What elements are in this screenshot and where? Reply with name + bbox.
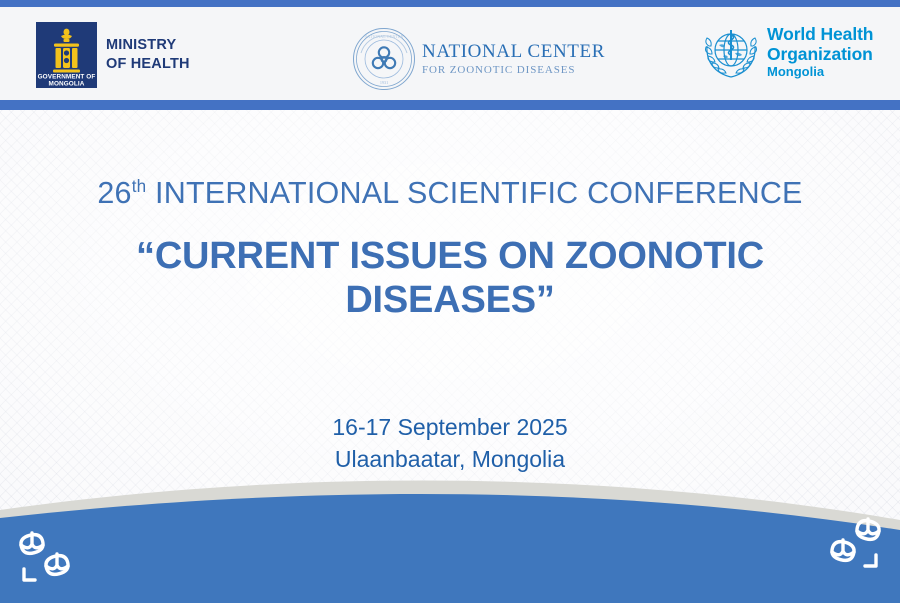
svg-text:GOVERNMENT OF: GOVERNMENT OF	[38, 74, 96, 81]
svg-text:NATIONAL CENTER: NATIONAL CENTER	[365, 35, 404, 39]
conference-ordinal: th	[132, 177, 147, 196]
top-accent-bar	[0, 0, 900, 7]
nczd-name-label: NATIONAL CENTER FOR ZOONOTIC DISEASES	[422, 42, 605, 76]
header-bottom-accent-bar	[0, 100, 900, 110]
conference-theme-title: “CURRENT ISSUES ON ZOONOTIC DISEASES”	[130, 234, 770, 322]
who-mongolia-logo: World Health Organization Mongolia	[702, 23, 873, 81]
nczd-name-line1: NATIONAL CENTER	[422, 42, 605, 62]
bottom-wave-decoration	[0, 468, 900, 603]
who-name-line2: Organization	[767, 45, 873, 65]
moh-text-line1: MINISTRY	[106, 37, 176, 53]
who-name-line1: World Health	[767, 25, 873, 45]
who-globe-asclepius-emblem-icon	[702, 23, 760, 81]
conference-number-line: 26th INTERNATIONAL SCIENTIFIC CONFERENCE	[0, 175, 900, 212]
nczd-name-line2: FOR ZOONOTIC DISEASES	[422, 65, 605, 77]
ornament-bottom-left	[14, 529, 88, 591]
header-logo-row: GOVERNMENT OF MONGOLIA MINISTRY OF HEALT…	[0, 7, 900, 100]
national-center-zoonotic-diseases-logo: NATIONAL CENTER 1931 NATIONAL CENTER FOR…	[352, 27, 605, 91]
who-country-label: Mongolia	[767, 64, 873, 79]
svg-text:MONGOLIA: MONGOLIA	[49, 81, 85, 88]
conference-prefix: 26	[97, 176, 131, 210]
who-wordmark: World Health Organization Mongolia	[767, 23, 873, 79]
conference-title-slide: GOVERNMENT OF MONGOLIA MINISTRY OF HEALT…	[0, 0, 900, 603]
ministry-of-health-logo: GOVERNMENT OF MONGOLIA MINISTRY OF HEALT…	[36, 22, 190, 88]
event-date: 16-17 September 2025	[0, 412, 900, 444]
svg-text:1931: 1931	[380, 80, 388, 85]
event-details-block: 16-17 September 2025 Ulaanbaatar, Mongol…	[0, 412, 900, 475]
mongolia-state-emblem-icon: GOVERNMENT OF MONGOLIA	[36, 22, 97, 88]
conference-suffix: INTERNATIONAL SCIENTIFIC CONFERENCE	[146, 176, 802, 210]
title-block: 26th INTERNATIONAL SCIENTIFIC CONFERENCE…	[0, 175, 900, 322]
ornament-bottom-right	[812, 515, 886, 577]
moh-text-line2: OF HEALTH	[106, 56, 190, 72]
ministry-of-health-label: MINISTRY OF HEALTH	[106, 36, 190, 74]
nczd-circular-seal-icon: NATIONAL CENTER 1931	[352, 27, 416, 91]
